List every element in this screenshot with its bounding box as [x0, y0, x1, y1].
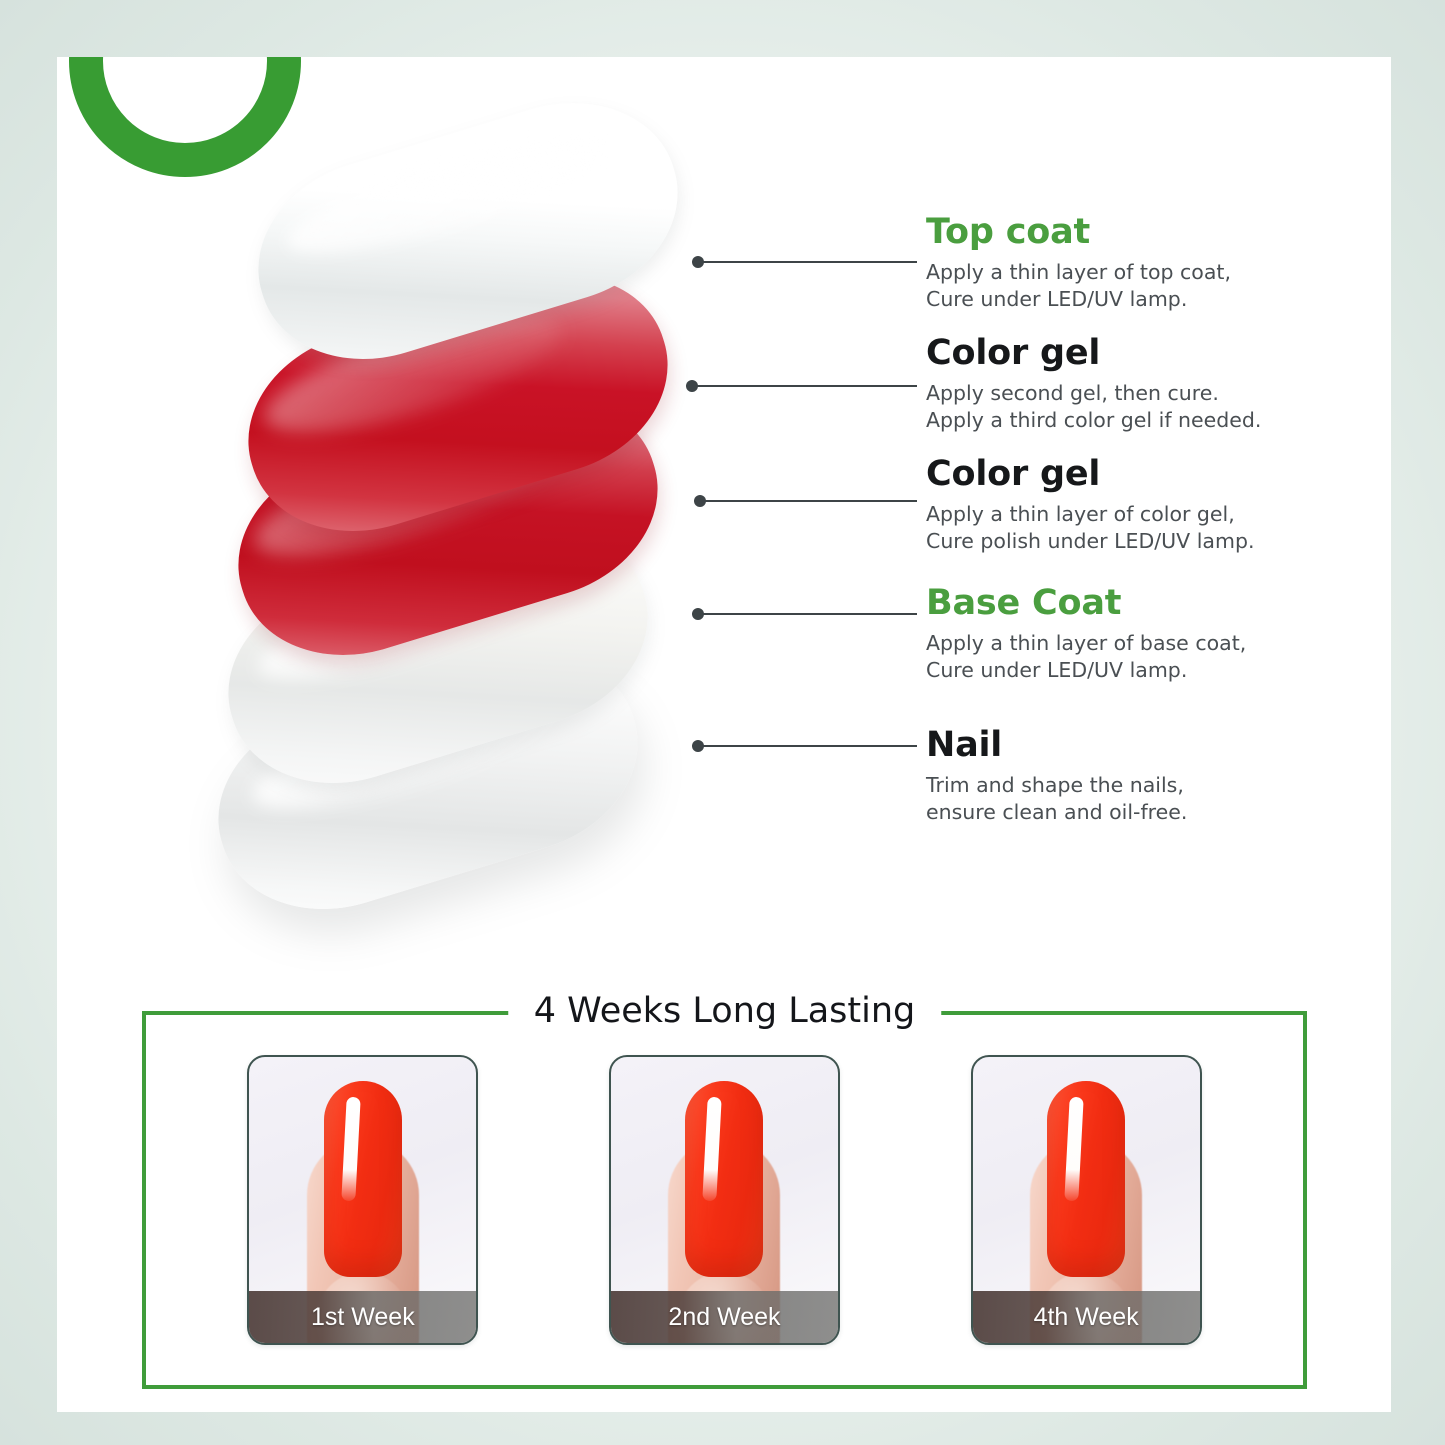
callout-line-2: ensure clean and oil-free. — [926, 799, 1391, 826]
leader-line-color-gel-1 — [700, 500, 917, 502]
week-card-3[interactable]: 4th Week — [971, 1055, 1202, 1345]
leader-dot-icon — [694, 495, 706, 507]
page-root: Top coat Apply a thin layer of top coat,… — [0, 0, 1445, 1445]
callout-line-2: Cure polish under LED/UV lamp. — [926, 528, 1391, 555]
callout-line-1: Trim and shape the nails, — [926, 772, 1391, 799]
callout-heading: Nail — [926, 728, 1391, 763]
callout-line-1: Apply a thin layer of color gel, — [926, 501, 1391, 528]
leader-dot-icon — [692, 256, 704, 268]
leader-line-nail — [698, 745, 917, 747]
week-label: 1st Week — [249, 1291, 476, 1343]
callout-color-gel-2: Color gel Apply second gel, then cure. A… — [926, 336, 1391, 434]
red-nail-illustration — [324, 1081, 402, 1277]
week-label: 4th Week — [973, 1291, 1200, 1343]
leader-line-top-coat — [698, 261, 917, 263]
callout-heading: Color gel — [926, 457, 1391, 492]
red-nail-illustration — [685, 1081, 763, 1277]
callout-line-1: Apply a thin layer of top coat, — [926, 259, 1391, 286]
callout-color-gel-1: Color gel Apply a thin layer of color ge… — [926, 457, 1391, 555]
week-card-1[interactable]: 1st Week — [247, 1055, 478, 1345]
callout-line-2: Apply a third color gel if needed. — [926, 407, 1391, 434]
leader-dot-icon — [692, 608, 704, 620]
leader-dot-icon — [686, 380, 698, 392]
callout-line-2: Cure under LED/UV lamp. — [926, 657, 1391, 684]
red-nail-illustration — [1047, 1081, 1125, 1277]
product-info-card: Top coat Apply a thin layer of top coat,… — [57, 57, 1391, 1412]
week-label: 2nd Week — [611, 1291, 838, 1343]
callout-base-coat: Base Coat Apply a thin layer of base coa… — [926, 586, 1391, 684]
callout-line-2: Cure under LED/UV lamp. — [926, 286, 1391, 313]
week-card-2[interactable]: 2nd Week — [609, 1055, 840, 1345]
callout-heading: Color gel — [926, 336, 1391, 371]
callout-top-coat: Top coat Apply a thin layer of top coat,… — [926, 215, 1391, 313]
leader-line-base-coat — [698, 613, 917, 615]
longevity-section: 4 Weeks Long Lasting 1st Week 2nd Week — [142, 984, 1307, 1389]
callout-nail: Nail Trim and shape the nails, ensure cl… — [926, 728, 1391, 826]
longevity-card-list: 1st Week 2nd Week 4th Week — [142, 1011, 1307, 1389]
leader-line-color-gel-2 — [692, 385, 917, 387]
callout-heading: Top coat — [926, 215, 1391, 250]
callout-line-1: Apply second gel, then cure. — [926, 380, 1391, 407]
callout-heading: Base Coat — [926, 586, 1391, 621]
longevity-title: 4 Weeks Long Lasting — [508, 984, 942, 1038]
leader-dot-icon — [692, 740, 704, 752]
callout-line-1: Apply a thin layer of base coat, — [926, 630, 1391, 657]
